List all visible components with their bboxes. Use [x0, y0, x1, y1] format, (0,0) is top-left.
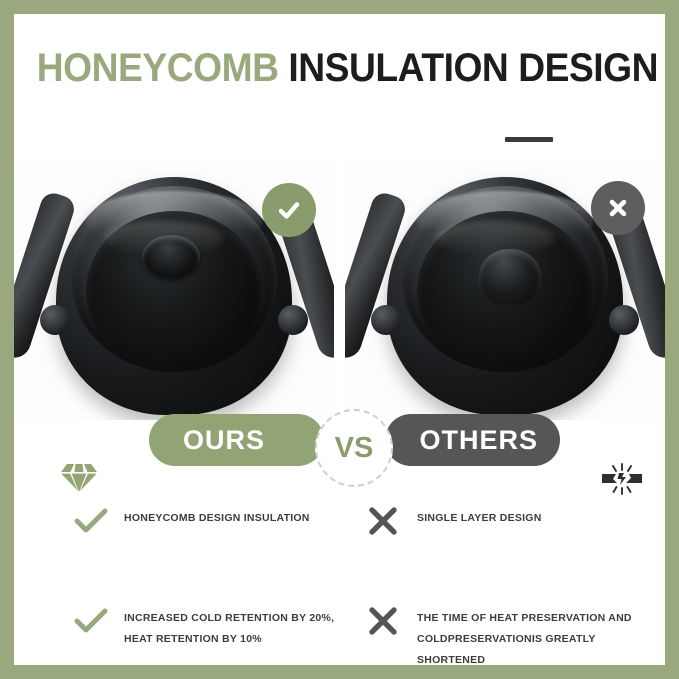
feature-text: THE TIME OF HEAT PRESERVATION AND COLDPR…	[417, 602, 653, 665]
list-item: SINGLE LAYER DESIGN	[353, 502, 653, 562]
cross-icon	[591, 181, 645, 235]
list-item: INCREASED COLD RETENTION BY 20%, HEAT RE…	[60, 602, 360, 662]
feature-text: INCREASED COLD RETENTION BY 20%, HEAT RE…	[124, 602, 360, 650]
feature-line-1: THE TIME OF HEAT PRESERVATION AND	[417, 612, 632, 624]
pot-body	[56, 177, 292, 415]
versus-badge: VS	[315, 409, 393, 487]
broken-shatter-icon	[600, 461, 644, 502]
feature-line-2: COLDPRESERVATIONIS GREATLY SHORTENED	[417, 629, 653, 665]
feature-column-others: SINGLE LAYER DESIGN THE TIME OF HEAT PRE…	[353, 502, 653, 665]
label-ours: OURS	[149, 414, 324, 466]
feature-text: SINGLE LAYER DESIGN	[417, 502, 653, 529]
pot-body	[387, 177, 623, 415]
product-photo-ours	[14, 165, 334, 420]
divider-dash	[505, 137, 553, 142]
label-others: OTHERS	[385, 414, 560, 466]
feature-text: HONEYCOMB DESIGN INSULATION	[124, 502, 360, 529]
pot-handle-joint-left	[40, 305, 70, 335]
feature-line-1: INCREASED COLD RETENTION BY 20%,	[124, 612, 334, 624]
page-title-highlight: HONEYCOMB	[37, 46, 279, 90]
diamond-icon	[58, 460, 100, 501]
page-title: HONEYCOMB INSULATION DESIGN	[37, 44, 642, 92]
feature-column-ours: HONEYCOMB DESIGN INSULATION INCREASED CO…	[60, 502, 360, 662]
infographic-inner: HONEYCOMB INSULATION DESIGN	[14, 14, 665, 665]
pot-handle-joint-right	[609, 305, 639, 335]
pot-knob-recess	[142, 235, 200, 279]
check-icon	[74, 606, 108, 636]
feature-line-1: HONEYCOMB DESIGN INSULATION	[124, 512, 310, 524]
list-item: HONEYCOMB DESIGN INSULATION	[60, 502, 360, 562]
pot-handle-joint-right	[278, 305, 308, 335]
cross-icon	[367, 606, 401, 636]
list-item: THE TIME OF HEAT PRESERVATION AND COLDPR…	[353, 602, 653, 665]
check-icon	[74, 506, 108, 536]
product-photos	[14, 165, 665, 420]
infographic-page: HONEYCOMB INSULATION DESIGN	[0, 0, 679, 679]
pot-handle-joint-left	[371, 305, 401, 335]
check-icon	[262, 183, 316, 237]
pot-sheen	[435, 221, 555, 255]
product-photo-others	[345, 165, 665, 420]
page-title-rest: INSULATION DESIGN	[279, 46, 658, 90]
versus-band: OURS OTHERS VS	[14, 414, 665, 478]
pot-knob-raised	[479, 249, 541, 305]
feature-line-1: SINGLE LAYER DESIGN	[417, 512, 542, 524]
feature-line-2: HEAT RETENTION BY 10%	[124, 629, 360, 650]
cross-icon	[367, 506, 401, 536]
